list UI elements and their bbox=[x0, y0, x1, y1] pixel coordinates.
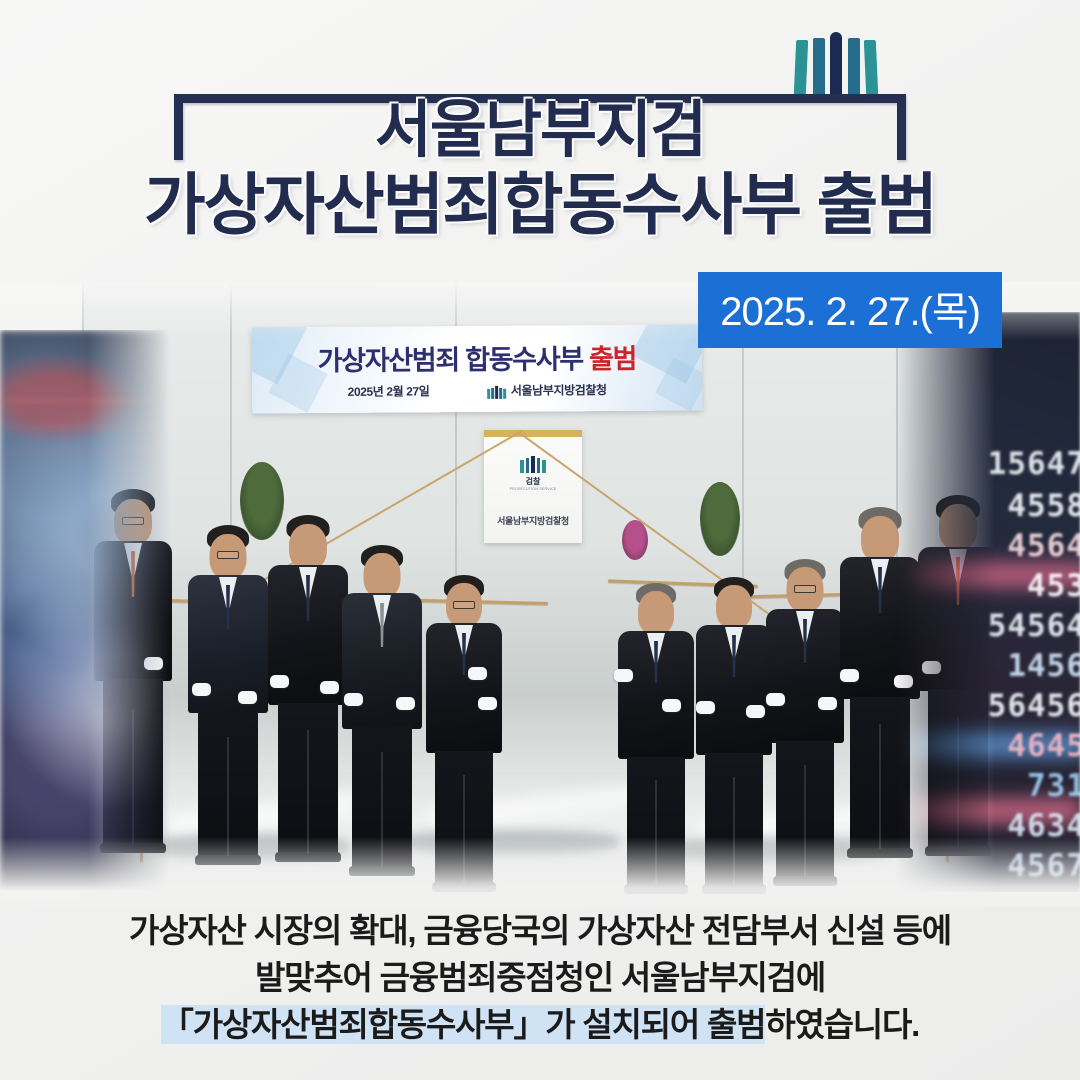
official-person bbox=[694, 519, 774, 849]
banner-date: 2025년 2월 27일 bbox=[348, 382, 430, 400]
official-person bbox=[616, 523, 696, 849]
official-person bbox=[424, 519, 504, 849]
plaque-emblem-icon bbox=[484, 456, 582, 473]
official-person bbox=[764, 511, 846, 849]
banner-title: 가상자산범죄 합동수사부 출범 bbox=[252, 336, 702, 378]
banner-title-main: 가상자산범죄 합동수사부 bbox=[318, 344, 583, 376]
caption-highlight: 「가상자산범죄합동수사부」가 설치되어 출범 bbox=[161, 1005, 765, 1044]
date-badge: 2025. 2. 27.(목) bbox=[698, 272, 1002, 348]
caption-block: 가상자산 시장의 확대, 금융당국의 가상자산 전담부서 신설 등에 발맞추어 … bbox=[0, 908, 1080, 1049]
caption-line-3: 「가상자산범죄합동수사부」가 설치되어 출범하였습니다. bbox=[0, 1002, 1080, 1049]
plaque-top-bar bbox=[484, 430, 582, 437]
official-person bbox=[340, 505, 424, 849]
page-title: 서울남부지검 가상자산범죄합동수사부 출범 bbox=[0, 100, 1080, 239]
title-line-2: 가상자산범죄합동수사부 출범 bbox=[0, 172, 1080, 239]
banner-org-group: 서울남부지방검찰청 bbox=[487, 381, 606, 399]
ceremony-banner: 가상자산범죄 합동수사부 출범 2025년 2월 27일 서울남부지방검찰청 bbox=[252, 324, 703, 413]
caption-line-3-tail: 하였습니다. bbox=[765, 1006, 919, 1043]
banner-emblem-icon bbox=[487, 386, 506, 399]
official-person bbox=[266, 497, 350, 849]
ceremony-photo: 가상자산범죄 합동수사부 출범 2025년 2월 27일 서울남부지방검찰청 검… bbox=[0, 282, 1080, 907]
banner-subline: 2025년 2월 27일 서울남부지방검찰청 bbox=[252, 380, 702, 400]
banner-organization: 서울남부지방검찰청 bbox=[511, 381, 607, 399]
card-header: 서울남부지검 가상자산범죄합동수사부 출범 bbox=[0, 0, 1080, 300]
banner-title-accent: 출범 bbox=[589, 344, 636, 374]
plaque-emblem-sublabel: PROSECUTION SERVICE bbox=[484, 487, 582, 491]
photo-right-numbers-overlay: 15647 4558 4564 453 54564 1456 56456 464… bbox=[895, 312, 1080, 892]
plaque-emblem-label: 검찰 bbox=[484, 476, 582, 487]
caption-line-1: 가상자산 시장의 확대, 금융당국의 가상자산 전담부서 신설 등에 bbox=[0, 908, 1080, 955]
caption-line-2: 발맞추어 금융범죄중점청인 서울남부지검에 bbox=[0, 955, 1080, 1002]
prosecution-service-emblem-icon bbox=[795, 32, 877, 94]
announcement-card: 서울남부지검 가상자산범죄합동수사부 출범 2025. 2. 27.(목) 가상… bbox=[0, 0, 1080, 1080]
title-line-1: 서울남부지검 bbox=[0, 100, 1080, 162]
official-person bbox=[186, 501, 270, 849]
photo-left-bokeh-overlay bbox=[0, 330, 170, 890]
